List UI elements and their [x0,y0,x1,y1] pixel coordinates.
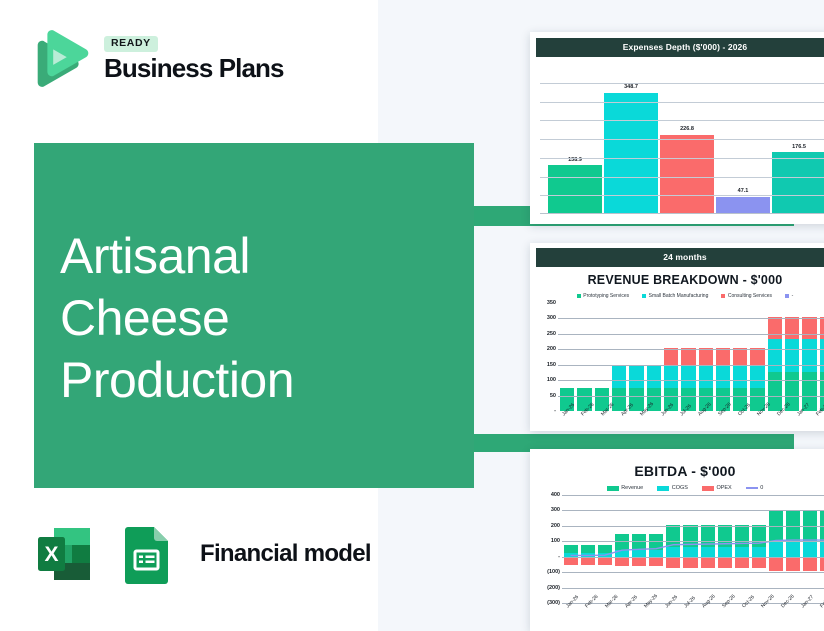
x-tick-wrap: Apr-26 [619,413,635,431]
y-tick-label: 300 [551,507,560,513]
legend-item[interactable]: Consulting Services [721,293,772,299]
revenue-canvas [558,303,824,411]
legend-label: 0 [760,485,763,491]
legend-item[interactable]: OPEX [702,485,732,491]
gridline [562,526,824,527]
x-tick-wrap: Nov-26 [755,413,772,431]
legend-swatch-icon [657,486,669,491]
page-title: Artisanal Cheese Production [60,225,294,411]
x-tick-wrap: Jan-26 [564,605,580,629]
y-tick-label: 350 [547,300,556,306]
y-tick-label: - [558,554,560,560]
bar-segment [768,317,782,339]
x-tick-wrap: Feb-27 [818,605,824,629]
y-tick-label: 100 [551,538,560,544]
x-tick-wrap: May-26 [638,413,656,431]
bar-segment [716,348,730,366]
x-tick-wrap: Aug-26 [696,413,713,431]
gridline [558,380,824,381]
bar-value-label: 226.8 [680,127,694,133]
x-tick-wrap: Jan-26 [560,413,576,431]
x-tick-wrap: May-26 [642,605,660,629]
excel-file-icon: X [32,522,96,586]
filetype-row: X Financial model [32,522,371,586]
y-tick-label: (200) [547,585,560,591]
bar-segment [716,366,730,388]
y-tick-label: - [554,408,556,414]
legend-swatch-icon [721,294,725,298]
legend-swatch-icon [702,486,714,491]
bar-segment [647,366,661,388]
legend-item[interactable]: 0 [746,485,764,491]
brand-name: Business Plans [104,55,284,82]
google-sheets-file-icon [114,522,178,586]
gridline [540,177,824,178]
bar-segment [629,366,643,388]
gridline [562,588,824,589]
bar-segment [768,339,782,371]
bar [660,135,714,213]
svg-text:X: X [44,543,58,566]
bar-value-label: 176.5 [792,145,806,151]
bar-segment [733,348,747,366]
x-tick-wrap: Jan-27 [795,413,811,431]
legend-label: COGS [672,485,688,491]
gridline [562,557,824,558]
ebitda-legend: RevenueCOGSOPEX0 [530,485,824,491]
legend-swatch-icon [785,294,789,298]
bar [716,197,770,213]
y-tick-label: 200 [547,346,556,352]
gridline [562,541,824,542]
gridline [540,139,824,140]
gridline [562,510,824,511]
brand-text-group: READY Business Plans [104,36,284,82]
bar-segment [681,348,695,366]
bar [548,165,602,213]
y-tick-label: (300) [547,600,560,606]
bar-segment [733,366,747,388]
legend-label: Revenue [621,485,643,491]
bar-segment [802,317,816,339]
x-tick-wrap: Feb-27 [814,413,824,431]
bar-segment [785,317,799,339]
bar-segment [750,348,764,366]
y-tick-label: 50 [550,393,556,399]
bar-segment [802,339,816,371]
revenue-chart-title: REVENUE BREAKDOWN - $'000 [530,273,824,287]
revenue-y-axis: 35030025020015010050- [536,303,558,411]
y-tick-label: 100 [547,377,556,383]
x-tick-wrap: Aug-26 [700,605,717,629]
legend-label: Small Batch Manufacturing [649,293,709,299]
legend-item[interactable]: Revenue [607,485,644,491]
legend-label: OPEX [716,485,731,491]
x-tick-wrap: Jun-26 [659,413,675,431]
gridline [558,318,824,319]
legend-item[interactable]: - [785,293,793,299]
legend-label: - [792,293,794,299]
legend-item[interactable]: COGS [657,485,688,491]
bar-segment [664,348,678,366]
ebitda-chart-title: EBITDA - $'000 [530,463,824,479]
bar-segment [699,366,713,388]
legend-swatch-icon [642,294,646,298]
x-tick-wrap: Jan-27 [799,605,815,629]
revenue-legend: Prototyping ServicesSmall Batch Manufact… [530,293,824,299]
x-tick-wrap: Apr-26 [623,605,639,629]
bar-segment [820,339,824,371]
gridline [562,495,824,496]
legend-item[interactable]: Prototyping Services [577,293,629,299]
gridline [558,396,824,397]
y-tick-label: 200 [551,523,560,529]
x-tick-wrap: Sep-26 [716,413,733,431]
bar [772,152,824,213]
gridline [562,572,824,573]
legend-swatch-icon [607,486,619,491]
ebitda-canvas [562,495,824,603]
expenses-plot-area: 138.9348.7226.847.1176.5 [540,64,824,214]
hero-panel: Artisanal Cheese Production [34,143,474,488]
legend-swatch-icon [577,294,581,298]
bar-segment [699,348,713,366]
brand-block: READY Business Plans [28,28,284,90]
gridline [558,334,824,335]
x-tick-wrap: Dec-26 [775,413,792,431]
ebitda-y-axis: 400300200100-(100)(200)(300) [536,495,562,603]
x-tick-wrap: Feb-26 [579,413,596,431]
gridline [540,102,824,103]
gridline [558,365,824,366]
play-logo-icon [28,28,90,90]
x-tick-wrap: Jul-26 [678,413,693,431]
legend-label: Consulting Services [728,293,772,299]
gridline [540,83,824,84]
bar-value-label: 348.7 [624,85,638,91]
bar-segment [785,339,799,371]
gridline [540,120,824,121]
zero-line-path [571,540,824,555]
ebitda-x-axis: Jan-26Feb-26Mar-26Apr-26May-26Jun-26Jul-… [562,605,824,629]
x-tick-wrap: Jun-26 [663,605,679,629]
chart-card-ebitda[interactable]: EBITDA - $'000 RevenueCOGSOPEX0 40030020… [530,449,824,631]
x-tick-wrap: Jul-26 [682,605,697,629]
expenses-chart-title: Expenses Depth ($'000) - 2026 [536,38,824,57]
y-tick-label: 300 [547,315,556,321]
ebitda-plot-area: 400300200100-(100)(200)(300) [536,495,824,603]
revenue-plot-area: 35030025020015010050- [536,303,824,411]
chart-card-revenue-breakdown[interactable]: 24 months REVENUE BREAKDOWN - $'000 Prot… [530,243,824,431]
y-tick-label: (100) [547,569,560,575]
y-tick-label: 150 [547,362,556,368]
legend-item[interactable]: Small Batch Manufacturing [642,293,708,299]
x-tick-wrap: Nov-26 [759,605,776,629]
x-tick-wrap: Mar-26 [599,413,616,431]
gridline [540,195,824,196]
bar-segment [612,366,626,388]
chart-card-expenses-depth[interactable]: Expenses Depth ($'000) - 2026 138.9348.7… [530,32,824,224]
gridline [540,158,824,159]
bar-segment [664,366,678,388]
x-tick-wrap: Dec-26 [779,605,796,629]
revenue-banner: 24 months [536,248,824,267]
y-tick-label: 250 [547,331,556,337]
x-tick-wrap: Feb-26 [583,605,600,629]
ready-badge: READY [104,36,158,52]
bar-segment [820,317,824,339]
gridline [558,349,824,350]
legend-swatch-icon [746,487,758,489]
bar-segment [681,366,695,388]
filetype-label: Financial model [200,540,371,568]
x-tick-wrap: Oct-26 [736,413,752,431]
y-tick-label: 400 [551,492,560,498]
bar-value-label: 47.1 [738,189,749,195]
x-tick-wrap: Mar-26 [603,605,620,629]
revenue-x-axis: Jan-26Feb-26Mar-26Apr-26May-26Jun-26Jul-… [558,413,824,431]
legend-label: Prototyping Services [583,293,629,299]
x-tick-wrap: Sep-26 [720,605,737,629]
bar-segment [750,366,764,388]
x-tick-wrap: Oct-26 [740,605,756,629]
